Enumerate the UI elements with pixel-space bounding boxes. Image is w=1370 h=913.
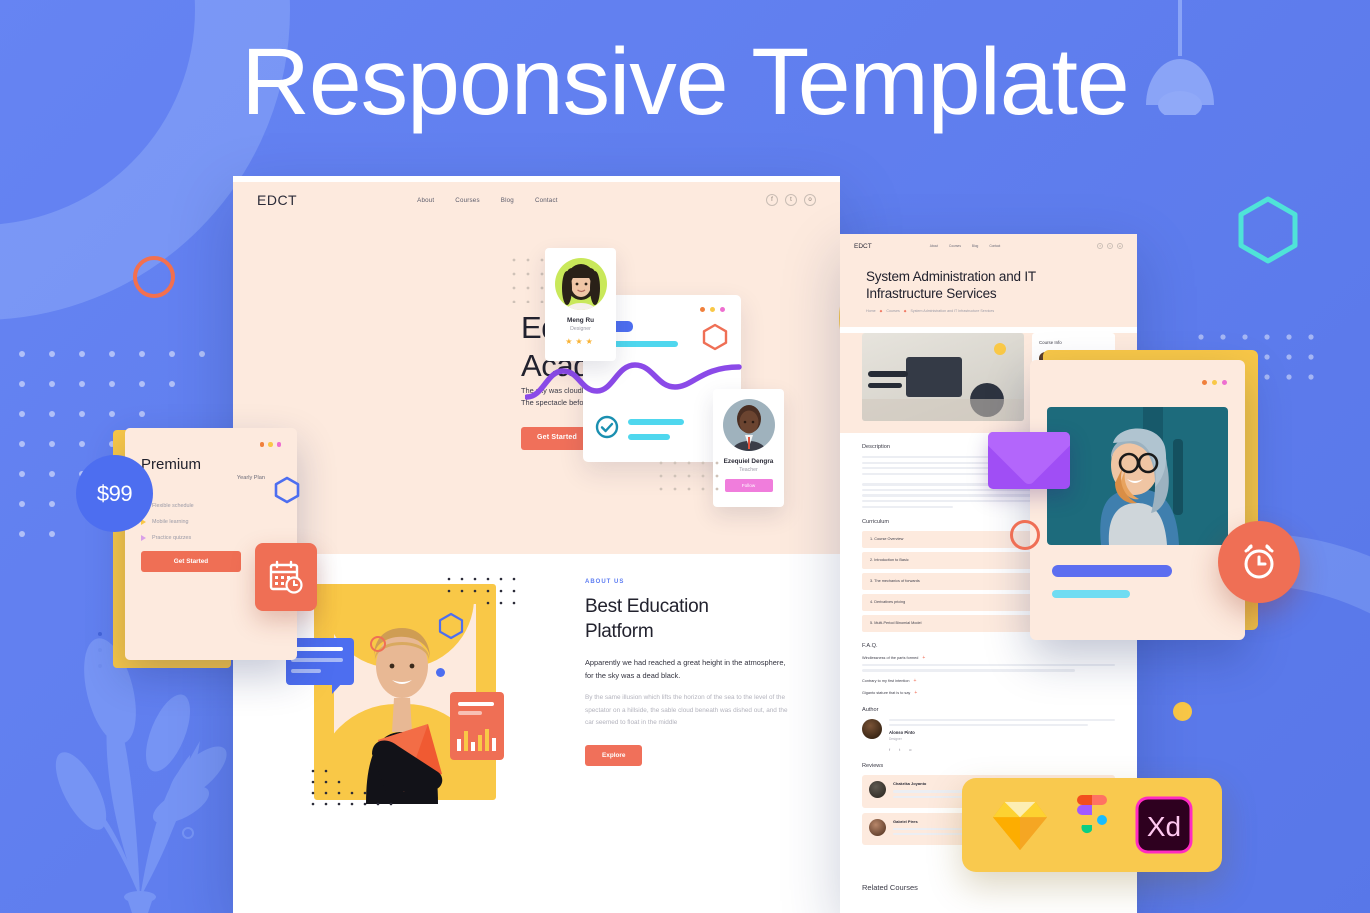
text-line-cyan-2 xyxy=(628,434,670,440)
plus-icon[interactable]: + xyxy=(913,678,916,684)
yellow-dot-decoration xyxy=(1173,702,1192,721)
blue-dot-decoration xyxy=(436,668,445,677)
window-dots xyxy=(141,442,281,447)
text-line-cyan-1 xyxy=(628,419,684,425)
avatar xyxy=(869,819,886,836)
plan-feature-label: Mobile learning xyxy=(152,519,189,525)
instagram-icon[interactable]: o xyxy=(909,747,911,752)
faq-question[interactable]: Windlessness of the parts formed + xyxy=(862,655,1115,661)
about-heading: Best Education Platform xyxy=(585,594,790,644)
page-title: Responsive Template xyxy=(0,31,1370,133)
curriculum-item-label: 2. Introduction to Basic xyxy=(870,558,909,562)
author-name: Alonso Pinto xyxy=(889,730,1115,735)
rating-stars: ★★★ xyxy=(551,337,610,346)
hexagon-outline-icon xyxy=(702,323,728,351)
avatar xyxy=(553,256,609,312)
faq-question[interactable]: Contrary to my first intention + xyxy=(862,678,1115,684)
circle-outline-icon xyxy=(133,256,175,298)
window-dots xyxy=(700,307,725,312)
placeholder-bar-blue xyxy=(1052,565,1172,577)
calendar-clock-icon xyxy=(255,543,317,611)
page-header: System Administration and IT Infrastruct… xyxy=(840,258,1137,327)
instagram-icon[interactable]: o xyxy=(1117,243,1123,249)
instructor-role: Designer xyxy=(551,326,610,332)
curriculum-item-label: 3. The mechanics of forwards xyxy=(870,579,920,583)
course-title-line-2: Infrastructure Services xyxy=(866,285,1111,302)
main-landing-page-mockup: EDCT About Courses Blog Contact f t o Ed… xyxy=(233,176,840,913)
plan-features: Flexible schedule Mobile learning Practi… xyxy=(141,503,281,541)
about-body: By the same illusion which lifts the hor… xyxy=(585,692,790,730)
curriculum-item-label: 5. Multi-Period Binomial Model xyxy=(870,621,922,625)
about-heading-line-2: Platform xyxy=(585,619,790,644)
about-illustration xyxy=(286,576,521,819)
faq-question[interactable]: Giganto stature that is to say + xyxy=(862,690,1115,696)
hero-photo xyxy=(1047,407,1228,545)
plan-period: Yearly Plan xyxy=(141,475,281,481)
breadcrumb-home[interactable]: Home xyxy=(866,309,876,313)
curriculum-item-label: 4. Derivatives pricing xyxy=(870,600,905,604)
social-links: f t o xyxy=(1097,243,1123,249)
plan-feature-item: Practice quizzes xyxy=(141,535,281,541)
figma-icon xyxy=(1071,795,1113,855)
follow-badge[interactable]: Follow xyxy=(725,479,773,492)
breadcrumb-courses[interactable]: Courses xyxy=(886,309,899,313)
photo-card xyxy=(1030,360,1245,640)
about-kicker: ABOUT US xyxy=(585,579,790,585)
explore-button[interactable]: Explore xyxy=(585,745,642,766)
course-hero-image xyxy=(862,333,1024,421)
curriculum-item-label: 1. Course Overview xyxy=(870,537,903,541)
twitter-icon[interactable]: t xyxy=(1107,243,1113,249)
faq-question-label: Contrary to my first intention xyxy=(862,679,909,683)
navbar: EDCT About Courses Blog Contact f t o xyxy=(233,182,840,218)
plan-feature-label: Practice quizzes xyxy=(152,535,191,541)
breadcrumb-separator: ◆ xyxy=(904,309,907,313)
nav-links: About Courses Blog Contact xyxy=(930,244,1001,248)
twitter-icon[interactable]: t xyxy=(899,747,900,752)
instagram-icon[interactable]: o xyxy=(804,194,816,206)
instructor-name: Ezequiel Dengra xyxy=(719,458,778,465)
envelope-icon xyxy=(988,432,1070,489)
placeholder-bar-cyan xyxy=(1052,590,1130,598)
premium-get-started-button[interactable]: Get Started xyxy=(141,551,241,572)
hero-section: EDCT About Courses Blog Contact f t o Ed… xyxy=(233,182,840,554)
hexagon-outline-icon xyxy=(274,476,300,504)
poster-stage: Responsive Template EDCT About Courses B… xyxy=(0,0,1370,913)
course-info-label: Course Info xyxy=(1039,340,1108,345)
instructor-card-ezequiel-dengra[interactable]: Ezequiel Dengra Teacher Follow xyxy=(713,389,784,507)
about-copy: ABOUT US Best Education Platform Apparen… xyxy=(585,579,790,766)
hexagon-outline-icon xyxy=(438,612,464,640)
nav-item-contact[interactable]: Contact xyxy=(989,244,1000,248)
nav-item-blog[interactable]: Blog xyxy=(501,197,514,204)
plan-title: Premium xyxy=(141,456,281,473)
about-lead: Apparently we had reached a great height… xyxy=(585,656,790,682)
avatar xyxy=(862,719,882,739)
hexagon-outline-icon xyxy=(1236,196,1300,264)
price-badge: $99 xyxy=(76,455,153,532)
adobe-xd-icon: Xd xyxy=(1135,796,1193,854)
circle-outline-icon xyxy=(1010,520,1040,550)
nav-links: About Courses Blog Contact xyxy=(417,197,558,204)
plan-feature-label: Flexible schedule xyxy=(152,503,194,509)
breadcrumb-current: System Administration and IT Infrastruct… xyxy=(911,309,995,313)
plan-feature-item: Mobile learning xyxy=(141,519,281,525)
dot-grid-about-top xyxy=(446,576,526,608)
sketch-icon xyxy=(991,798,1049,852)
instructor-name: Meng Ru xyxy=(551,317,610,324)
section-title-reviews: Reviews xyxy=(862,763,1115,769)
nav-item-courses[interactable]: Courses xyxy=(455,197,479,204)
facebook-icon[interactable]: f xyxy=(889,747,890,752)
breadcrumb-separator: ◆ xyxy=(880,309,883,313)
alarm-clock-icon xyxy=(1218,521,1300,603)
brand-logo[interactable]: EDCT xyxy=(257,192,297,208)
author-role: Designer xyxy=(889,737,1115,741)
faq-question-label: Windlessness of the parts formed xyxy=(862,656,918,660)
course-title-line-1: System Administration and IT xyxy=(866,268,1111,285)
circle-outline-icon xyxy=(370,636,386,652)
twitter-icon[interactable]: t xyxy=(785,194,797,206)
wave-graph xyxy=(525,357,743,407)
facebook-icon[interactable]: f xyxy=(1097,243,1103,249)
triangle-bullet-icon xyxy=(141,535,146,541)
about-section: ABOUT US Best Education Platform Apparen… xyxy=(233,554,840,913)
course-title: System Administration and IT Infrastruct… xyxy=(866,268,1111,302)
about-heading-line-1: Best Education xyxy=(585,594,790,619)
section-title-related: Related Courses xyxy=(862,883,1115,892)
faq-question-label: Giganto stature that is to say xyxy=(862,691,910,695)
navbar: EDCT About Courses Blog Contact f t o xyxy=(840,234,1137,258)
svg-text:Xd: Xd xyxy=(1147,811,1181,842)
instructor-card-meng-ru[interactable]: Meng Ru Designer ★★★ xyxy=(545,248,616,361)
plan-feature-item: Flexible schedule xyxy=(141,503,281,509)
nav-item-about[interactable]: About xyxy=(417,197,434,204)
instructor-role: Teacher xyxy=(719,467,778,473)
author-block: Alonso Pinto Designer f t o xyxy=(862,719,1115,753)
facebook-icon[interactable]: f xyxy=(766,194,778,206)
plus-icon[interactable]: + xyxy=(922,655,925,661)
dot-grid-about-bottom xyxy=(310,768,402,812)
nav-item-blog[interactable]: Blog xyxy=(972,244,978,248)
brand-logo[interactable]: EDCT xyxy=(854,243,872,250)
social-links: f t o xyxy=(766,194,816,206)
check-circle-icon xyxy=(595,415,619,439)
chart-card xyxy=(450,692,504,760)
nav-item-about[interactable]: About xyxy=(930,244,938,248)
breadcrumb: Home ◆ Courses ◆ System Administration a… xyxy=(866,309,1111,313)
nav-item-courses[interactable]: Courses xyxy=(949,244,961,248)
window-dots xyxy=(1202,380,1227,385)
design-tools-badge: Xd xyxy=(962,778,1222,872)
section-title-faq: F.A.Q. xyxy=(862,643,1115,649)
avatar xyxy=(869,781,886,798)
plus-icon[interactable]: + xyxy=(914,690,917,696)
nav-item-contact[interactable]: Contact xyxy=(535,197,558,204)
avatar xyxy=(721,397,777,453)
section-title-author: Author xyxy=(862,707,1115,713)
dot-grid-hero-2 xyxy=(658,460,720,492)
